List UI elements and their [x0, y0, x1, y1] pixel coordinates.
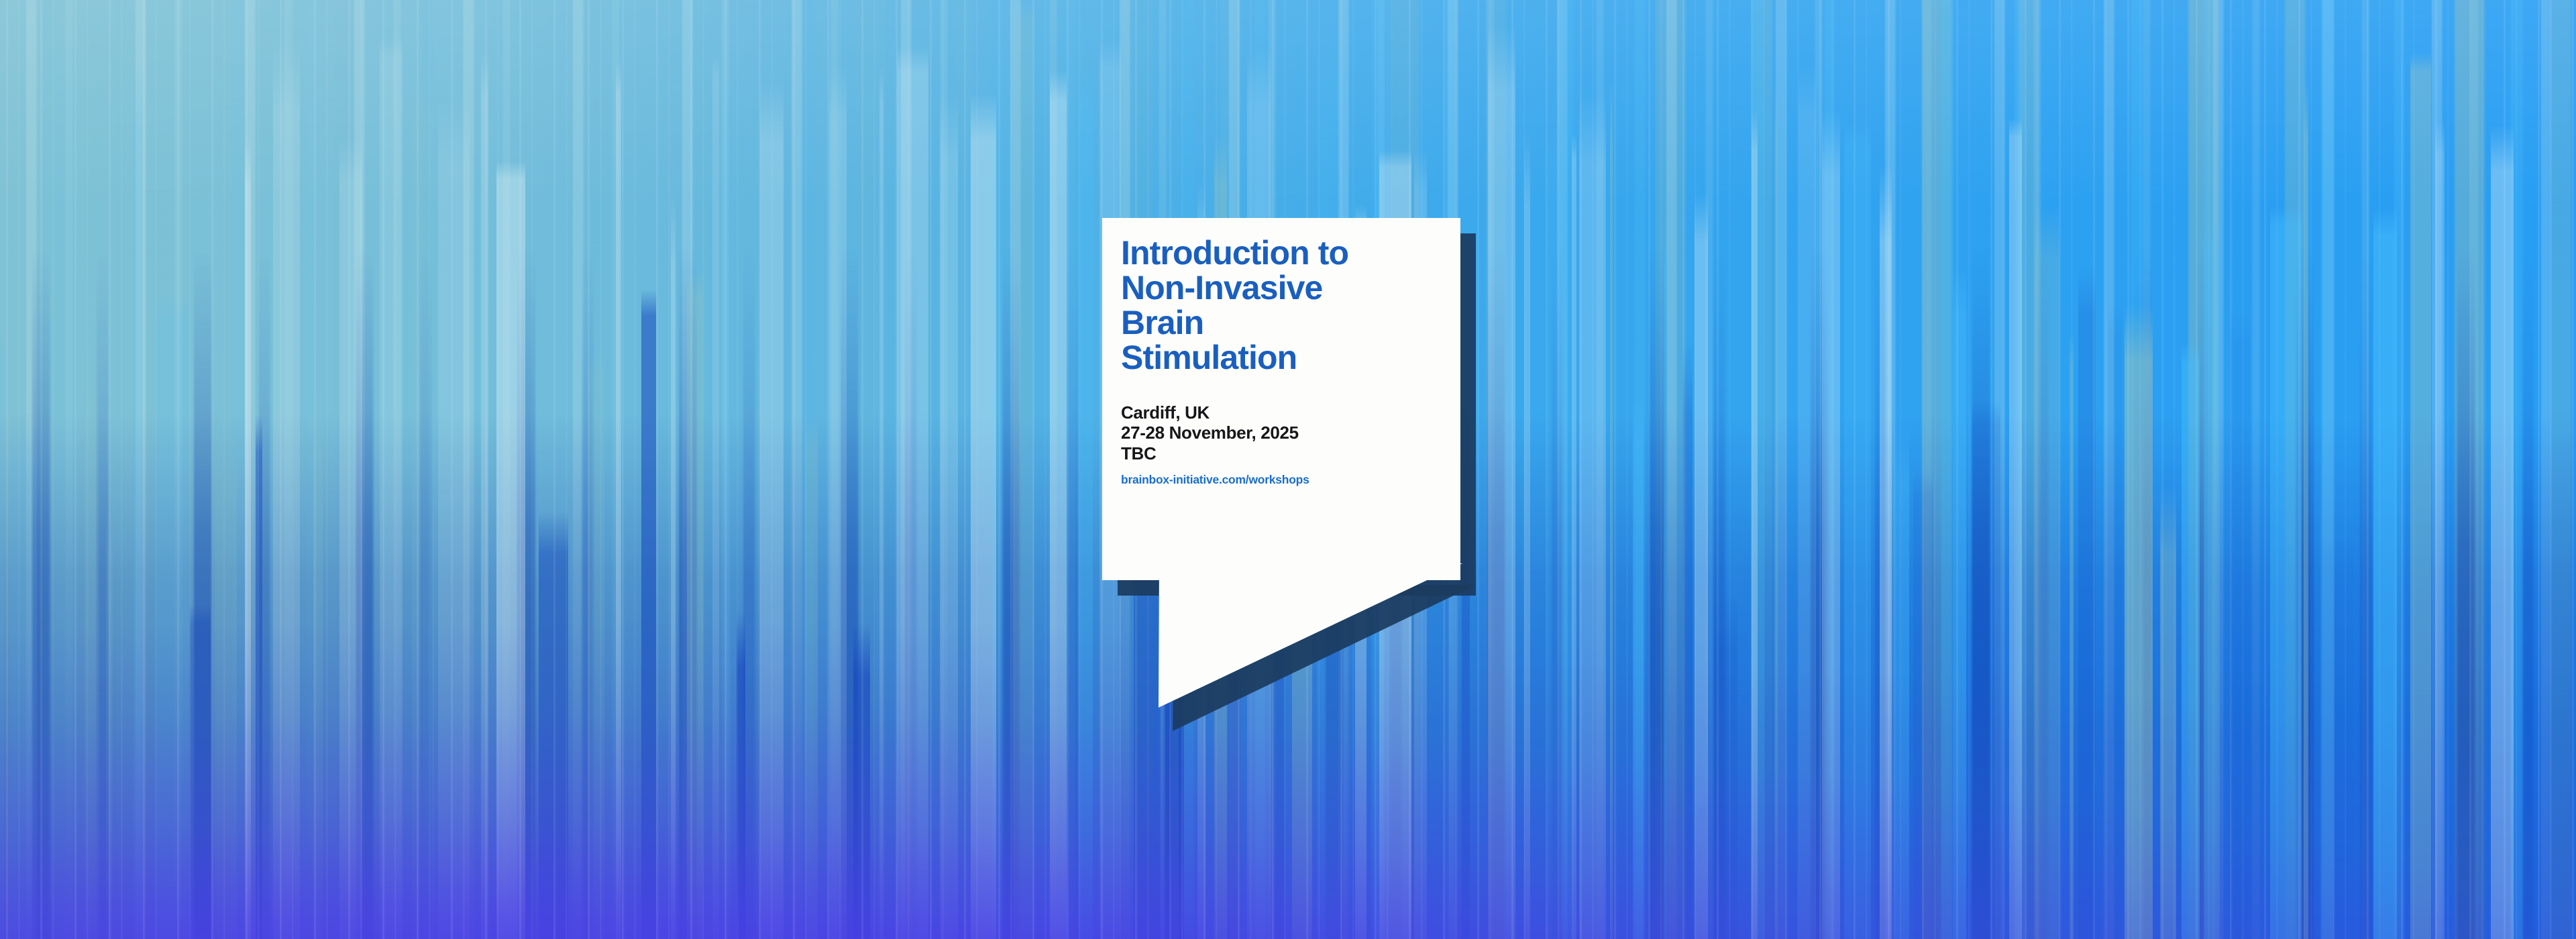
workshop-url-link[interactable]: brainbox-initiative.com/workshops [1121, 473, 1460, 487]
event-details: Cardiff, UK 27-28 November, 2025 TBC [1121, 402, 1460, 463]
title-line-1: Introduction to [1121, 235, 1436, 270]
title-line-4: Stimulation [1121, 340, 1436, 375]
speech-bubble-card: Introduction to Non-Invasive Brain Stimu… [1102, 218, 1460, 580]
event-location: Cardiff, UK [1121, 402, 1460, 423]
event-venue: TBC [1121, 443, 1460, 463]
title-line-3: Brain [1121, 305, 1436, 340]
event-dates: 27-28 November, 2025 [1121, 423, 1460, 443]
title-line-2: Non-Invasive [1121, 270, 1436, 305]
poster-title: Introduction to Non-Invasive Brain Stimu… [1121, 235, 1436, 375]
poster-banner: Introduction to Non-Invasive Brain Stimu… [0, 0, 2576, 939]
